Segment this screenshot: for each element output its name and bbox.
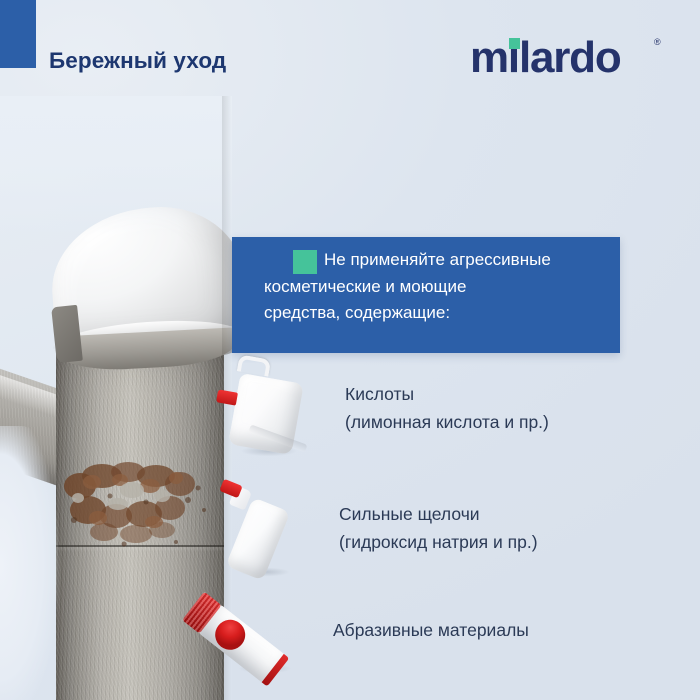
corner-flag-accent bbox=[0, 0, 36, 68]
green-square-bullet-icon bbox=[293, 250, 317, 274]
jerrycan-handle bbox=[237, 354, 271, 376]
brand-logo: milardo ® bbox=[470, 33, 660, 83]
hazard-title: Сильные щелочи bbox=[339, 500, 639, 528]
photo-top-fade bbox=[0, 96, 232, 236]
hazard-label: Сильные щелочи (гидроксид натрия и пр.) bbox=[339, 500, 639, 556]
corrosion-patch bbox=[58, 460, 224, 552]
abrasive-tube-icon bbox=[206, 588, 316, 684]
callout-line-2: косметические и моющие bbox=[264, 274, 609, 301]
brand-wordmark: milardo bbox=[470, 33, 621, 83]
hazard-title: Кислоты bbox=[345, 380, 645, 408]
hazard-label: Абразивные материалы bbox=[333, 616, 633, 644]
hazard-item-acids: Кислоты (лимонная кислота и пр.) bbox=[218, 366, 638, 462]
jerrycan-icon bbox=[218, 366, 328, 462]
warning-callout-panel: Не применяйте агрессивные косметические … bbox=[232, 237, 620, 353]
jerrycan-body bbox=[228, 373, 304, 455]
hazard-label: Кислоты (лимонная кислота и пр.) bbox=[345, 380, 645, 436]
hazard-detail: (лимонная кислота и пр.) bbox=[345, 408, 645, 436]
registered-trademark-icon: ® bbox=[654, 37, 661, 47]
hazard-item-alkali: Сильные щелочи (гидроксид натрия и пр.) bbox=[212, 486, 632, 582]
jerrycan-red-cap bbox=[216, 389, 238, 405]
jerrycan-ridge bbox=[248, 424, 307, 452]
page-title: Бережный уход bbox=[49, 48, 226, 74]
slide-canvas: Бережный уход milardo ® bbox=[0, 0, 700, 700]
hazard-item-abrasives: Абразивные материалы bbox=[206, 588, 626, 684]
tube-red-label-dot bbox=[209, 614, 251, 656]
green-square-dot-icon bbox=[509, 38, 520, 49]
callout-line-3: средства, содержащие: bbox=[264, 300, 609, 327]
hazard-detail: (гидроксид натрия и пр.) bbox=[339, 528, 639, 556]
callout-line-1: Не применяйте агрессивные bbox=[324, 247, 609, 274]
warning-callout-text: Не применяйте агрессивные косметические … bbox=[324, 247, 609, 327]
bottle-icon bbox=[212, 486, 322, 582]
hazard-title: Абразивные материалы bbox=[333, 616, 633, 644]
